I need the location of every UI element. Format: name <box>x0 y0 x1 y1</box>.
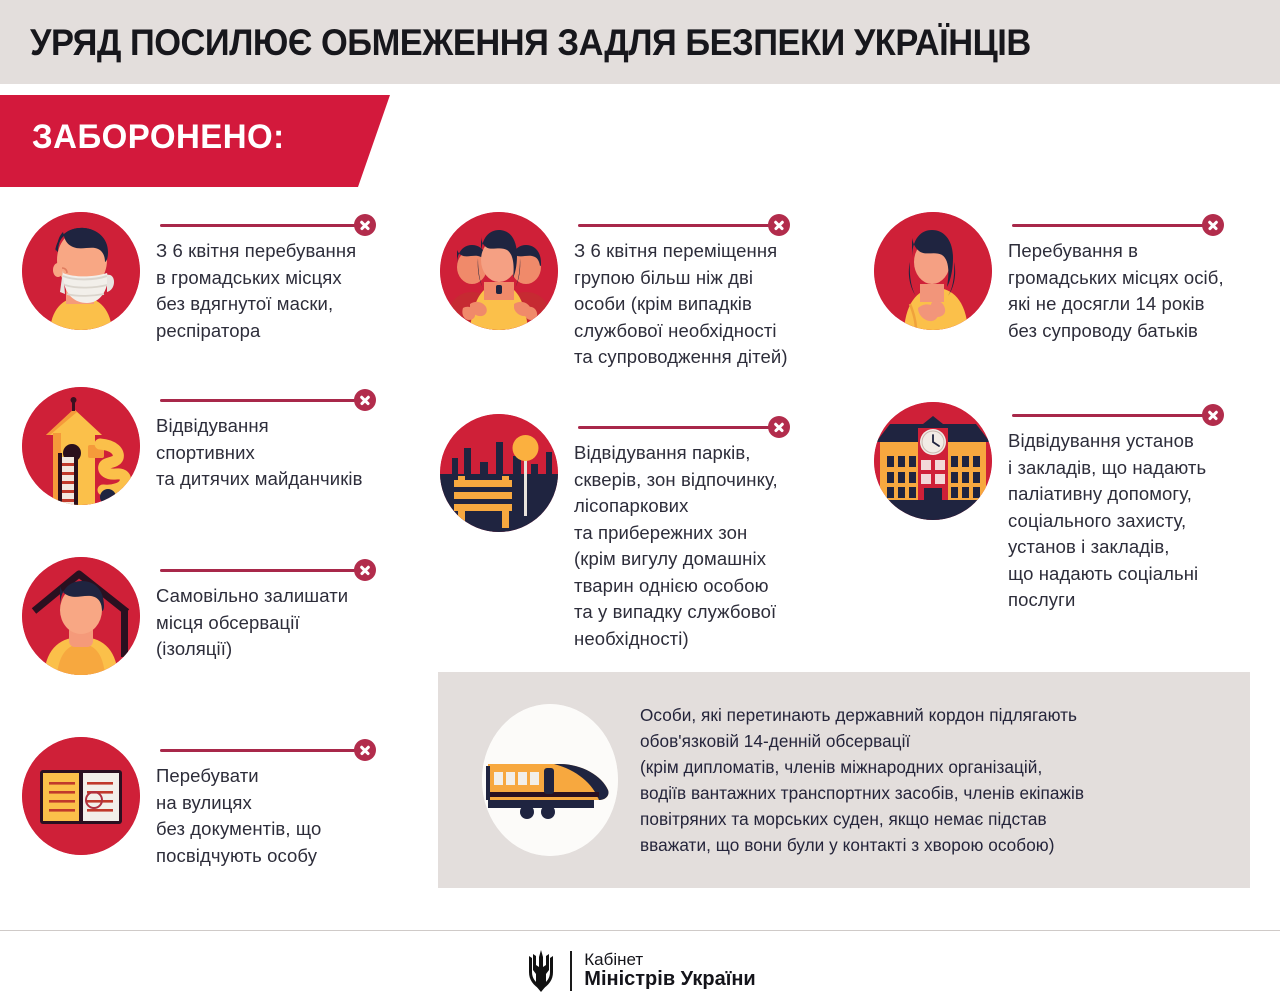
item-rule <box>1008 214 1274 236</box>
prohibited-banner-label: ЗАБОРОНЕНО: <box>32 118 285 157</box>
close-icon <box>354 389 376 411</box>
family-group-icon <box>440 212 558 330</box>
list-item: Відвідування установ і закладів, що нада… <box>874 402 1274 622</box>
list-item: Перебувати на вулицях без документів, що… <box>22 737 442 887</box>
icon-container <box>22 212 140 330</box>
list-item: Відвідування спортивних та дитячих майда… <box>22 387 442 557</box>
icon-container <box>22 557 140 675</box>
item-body: Відвідування установ і закладів, що нада… <box>1008 402 1274 614</box>
item-rule <box>156 389 442 411</box>
footer-label: Кабінет Міністрів України <box>584 951 755 990</box>
column-3: Перебування в громадських місцях осіб, я… <box>874 212 1274 622</box>
home-observation-icon <box>22 557 140 675</box>
close-icon <box>768 214 790 236</box>
list-item: Перебування в громадських місцях осіб, я… <box>874 212 1274 402</box>
page-title: УРЯД ПОСИЛЮЄ ОБМЕЖЕННЯ ЗАДЛЯ БЕЗПЕКИ УКР… <box>30 22 1031 64</box>
footer: Кабінет Міністрів України <box>0 938 1280 1004</box>
infographic-page: УРЯД ПОСИЛЮЄ ОБМЕЖЕННЯ ЗАДЛЯ БЕЗПЕКИ УКР… <box>0 0 1280 1004</box>
item-text: Самовільно залишати місця обсервації (із… <box>156 581 442 663</box>
passport-document-icon <box>22 737 140 855</box>
icon-container <box>874 212 992 330</box>
footer-divider-bar <box>570 951 572 991</box>
item-rule <box>156 739 442 761</box>
item-rule <box>156 559 442 581</box>
train-icon <box>482 704 618 856</box>
item-rule <box>1008 404 1274 426</box>
close-icon <box>1202 404 1224 426</box>
icon-container <box>874 402 992 520</box>
item-body: З 6 квітня перебування в громадських міс… <box>156 212 442 344</box>
institution-building-icon <box>874 402 992 520</box>
item-text: Відвідування парків, скверів, зон відпоч… <box>574 438 860 652</box>
icon-container <box>440 414 558 532</box>
list-item: Самовільно залишати місця обсервації (із… <box>22 557 442 737</box>
item-body: З 6 квітня переміщення групою більш ніж … <box>574 212 860 371</box>
list-item: З 6 квітня переміщення групою більш ніж … <box>440 212 860 414</box>
masked-person-icon <box>22 212 140 330</box>
item-body: Самовільно залишати місця обсервації (із… <box>156 557 442 663</box>
column-2: З 6 квітня переміщення групою більш ніж … <box>440 212 860 664</box>
close-icon <box>1202 214 1224 236</box>
list-item: З 6 квітня перебування в громадських міс… <box>22 212 442 387</box>
column-1: З 6 квітня перебування в громадських міс… <box>22 212 442 887</box>
item-text: Відвідування установ і закладів, що нада… <box>1008 426 1274 614</box>
icon-container <box>22 387 140 505</box>
close-icon <box>354 214 376 236</box>
footer-divider <box>0 930 1280 931</box>
item-rule <box>574 214 860 236</box>
item-body: Відвідування парків, скверів, зон відпоч… <box>574 414 860 652</box>
item-body: Перебування в громадських місцях осіб, я… <box>1008 212 1274 344</box>
item-text: Відвідування спортивних та дитячих майда… <box>156 411 442 493</box>
footer-line-1: Кабінет <box>584 951 755 969</box>
item-body: Відвідування спортивних та дитячих майда… <box>156 387 442 493</box>
footer-line-2: Міністрів України <box>584 969 755 990</box>
girl-child-icon <box>874 212 992 330</box>
item-text: Перебувати на вулицях без документів, що… <box>156 761 442 869</box>
border-crossing-panel: Особи, які перетинають державний кордон … <box>438 672 1250 888</box>
icon-container <box>440 212 558 330</box>
close-icon <box>768 416 790 438</box>
playground-icon <box>22 387 140 505</box>
list-item: Відвідування парків, скверів, зон відпоч… <box>440 414 860 664</box>
panel-text: Особи, які перетинають державний кордон … <box>640 702 1084 858</box>
park-bench-icon <box>440 414 558 532</box>
close-icon <box>354 559 376 581</box>
item-rule <box>156 214 442 236</box>
item-body: Перебувати на вулицях без документів, що… <box>156 737 442 869</box>
close-icon <box>354 739 376 761</box>
ukraine-trident-icon <box>524 948 558 994</box>
item-text: З 6 квітня перебування в громадських міс… <box>156 236 442 344</box>
icon-container <box>22 737 140 855</box>
item-text: Перебування в громадських місцях осіб, я… <box>1008 236 1274 344</box>
item-text: З 6 квітня переміщення групою більш ніж … <box>574 236 860 371</box>
item-rule <box>574 416 860 438</box>
